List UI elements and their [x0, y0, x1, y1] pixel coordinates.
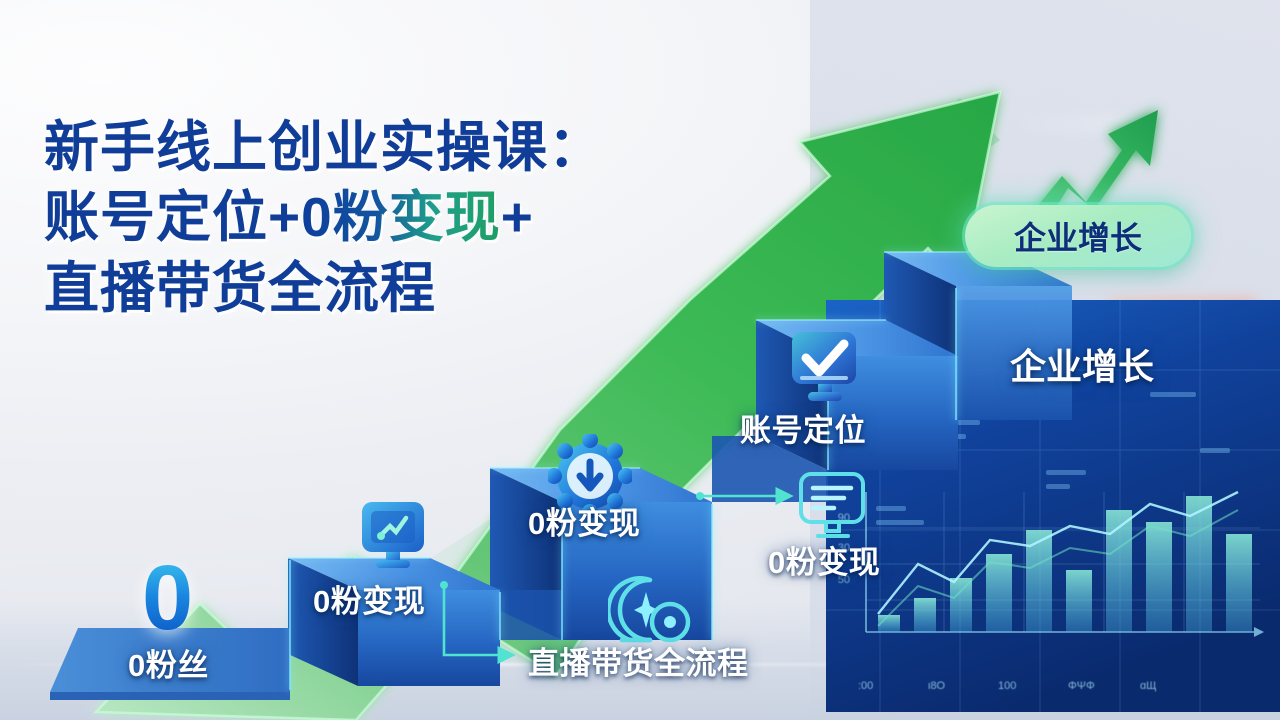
chart-xtick-0: :00	[858, 680, 873, 692]
chart-xtick-2: 100	[998, 680, 1016, 692]
step-2-label: 0粉变现	[313, 576, 425, 621]
step-3-label: 0粉变现	[528, 498, 640, 543]
title-line-2a: 账号定位+	[44, 186, 301, 248]
page-title: 新手线上创业实操课： 账号定位+0粉变现+ 直播带货全流程	[44, 112, 604, 323]
side-label: 0粉变现	[768, 537, 880, 582]
monitor-pen-icon	[356, 498, 430, 576]
monitor-check-icon	[788, 330, 862, 410]
title-line-2: 账号定位+0粉变现+	[44, 182, 604, 252]
monitor-lines-icon	[796, 470, 870, 546]
step-1-label: 0粉丝	[128, 640, 209, 685]
zero-badge: 0	[142, 552, 193, 644]
step-1-edge	[50, 692, 290, 700]
step-2-riser	[500, 590, 562, 640]
panel-label: 企业增长	[1010, 338, 1154, 390]
title-line-3: 直播带货全流程	[44, 253, 604, 323]
enterprise-growth-pill: 企业增长	[965, 205, 1191, 267]
background-bar-chart	[834, 482, 1274, 672]
chart-xtick-3: ΦΨΦ	[1068, 680, 1095, 692]
poster-canvas: 90 30 50 :00 ι8Ο 100 ΦΨΦ ɑЩ	[0, 0, 1280, 720]
title-line-2b: 0粉变现	[301, 186, 501, 248]
title-line-1: 新手线上创业实操课：	[44, 112, 604, 182]
chart-xtick-1: ι8Ο	[928, 680, 945, 692]
title-line-2c: +	[501, 186, 534, 248]
step-4-label: 账号定位	[740, 405, 866, 450]
floor-label: 直播带货全流程	[528, 638, 749, 683]
chart-xtick-4: ɑЩ	[1140, 680, 1156, 692]
